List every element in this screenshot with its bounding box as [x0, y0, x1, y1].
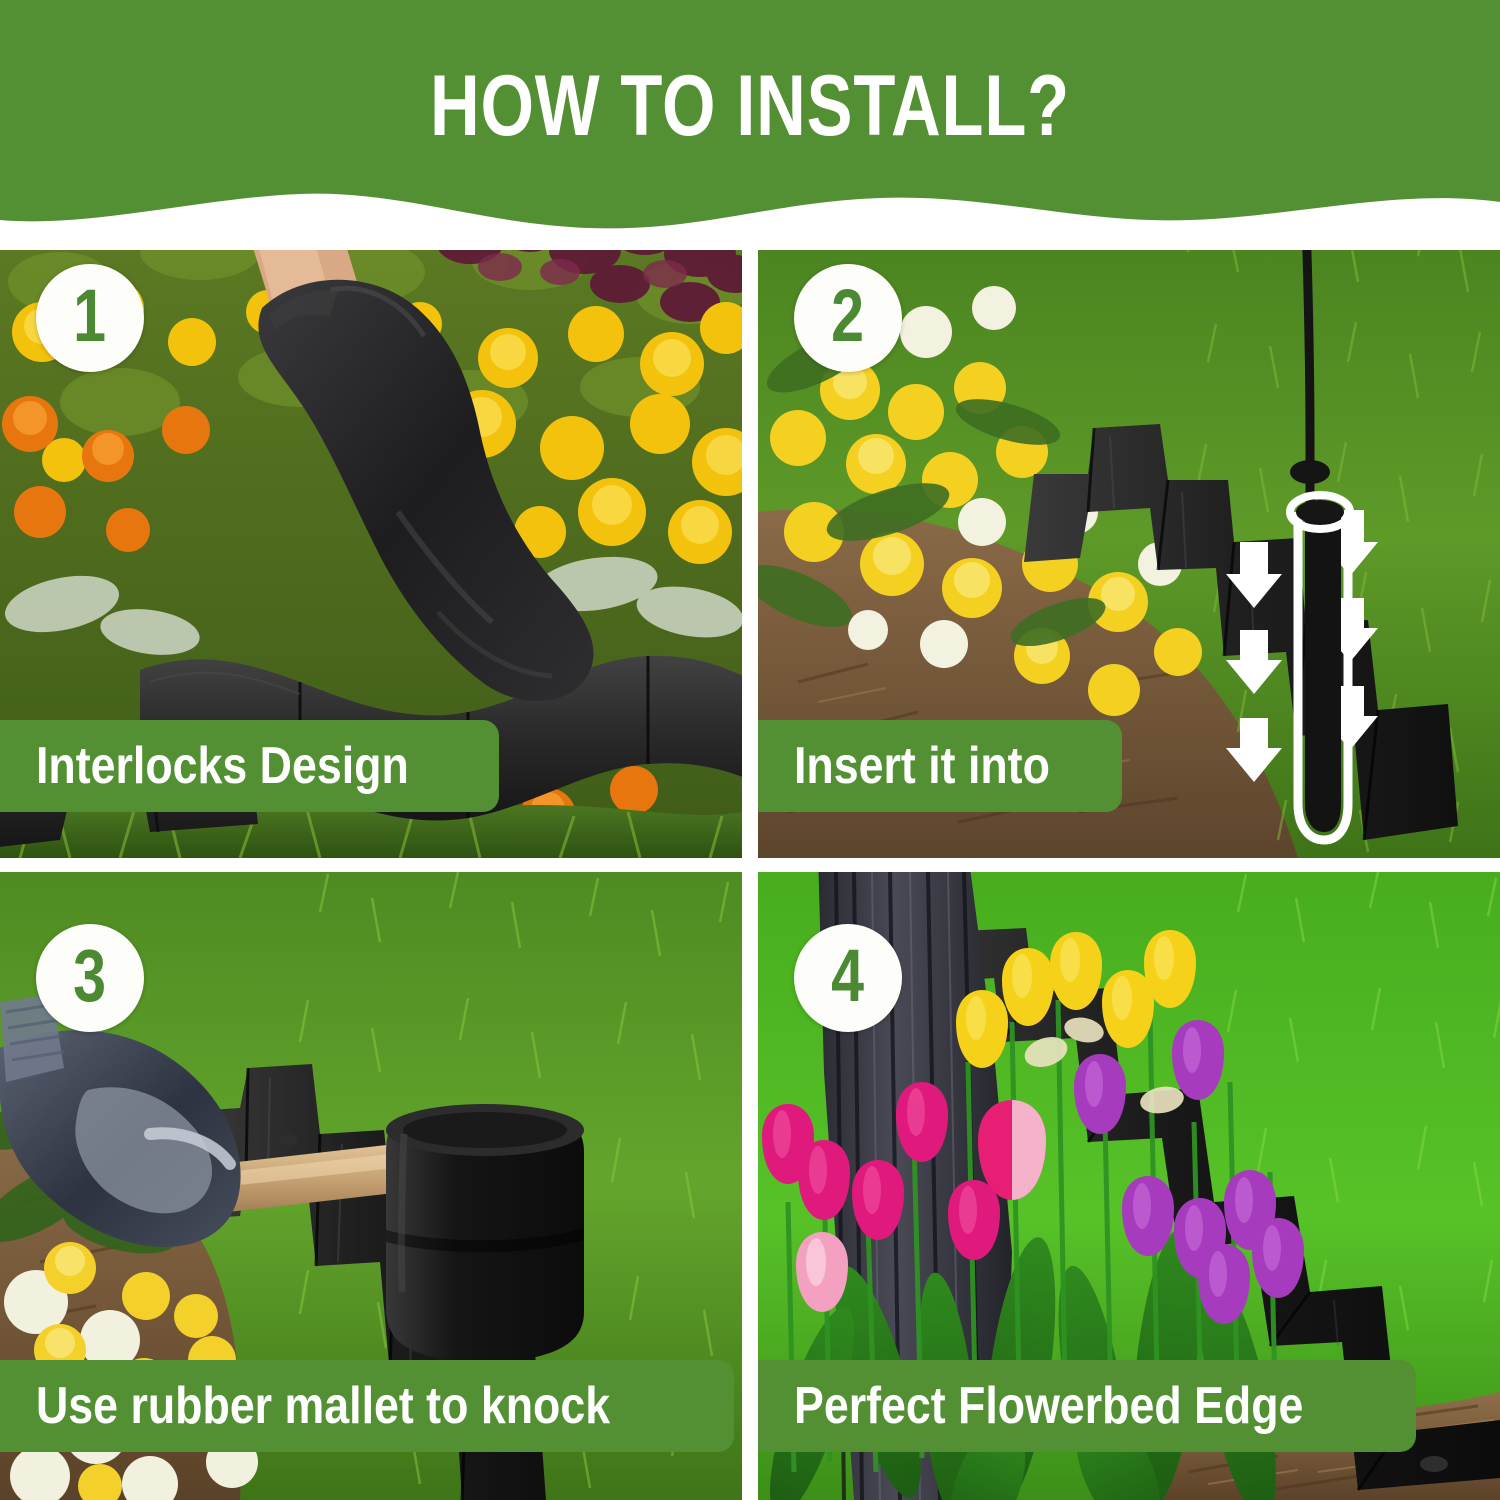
step-badge-3: 3 — [36, 924, 144, 1032]
step-badge-2: 2 — [794, 264, 902, 372]
step-number: 4 — [832, 939, 865, 1013]
step-caption-3: Use rubber mallet to knock — [0, 1360, 734, 1452]
step-panel-4: 4 Perfect Flowerbed Edge — [758, 872, 1500, 1500]
step-caption-label: Use rubber mallet to knock — [36, 1377, 610, 1435]
step-caption-label: Interlocks Design — [36, 737, 409, 795]
page-title: HOW TO INSTALL? — [150, 58, 1350, 154]
step-panel-3: 3 Use rubber mallet to knock — [0, 872, 742, 1500]
step-caption-2: Insert it into — [758, 720, 1122, 812]
infographic-page: HOW TO INSTALL? — [0, 0, 1500, 1500]
step-badge-1: 1 — [36, 264, 144, 372]
step-caption-1: Interlocks Design — [0, 720, 499, 812]
step-caption-4: Perfect Flowerbed Edge — [758, 1360, 1416, 1452]
header-banner: HOW TO INSTALL? — [0, 0, 1500, 218]
step-number: 2 — [832, 279, 865, 353]
step-caption-label: Insert it into — [794, 737, 1050, 795]
step-caption-label: Perfect Flowerbed Edge — [794, 1377, 1303, 1435]
step-badge-4: 4 — [794, 924, 902, 1032]
step-number: 3 — [74, 939, 107, 1013]
step-panel-2: 2 Insert it into — [758, 212, 1500, 858]
step-number: 1 — [74, 279, 107, 353]
step-panel-1: 1 Interlocks Design — [0, 212, 742, 858]
